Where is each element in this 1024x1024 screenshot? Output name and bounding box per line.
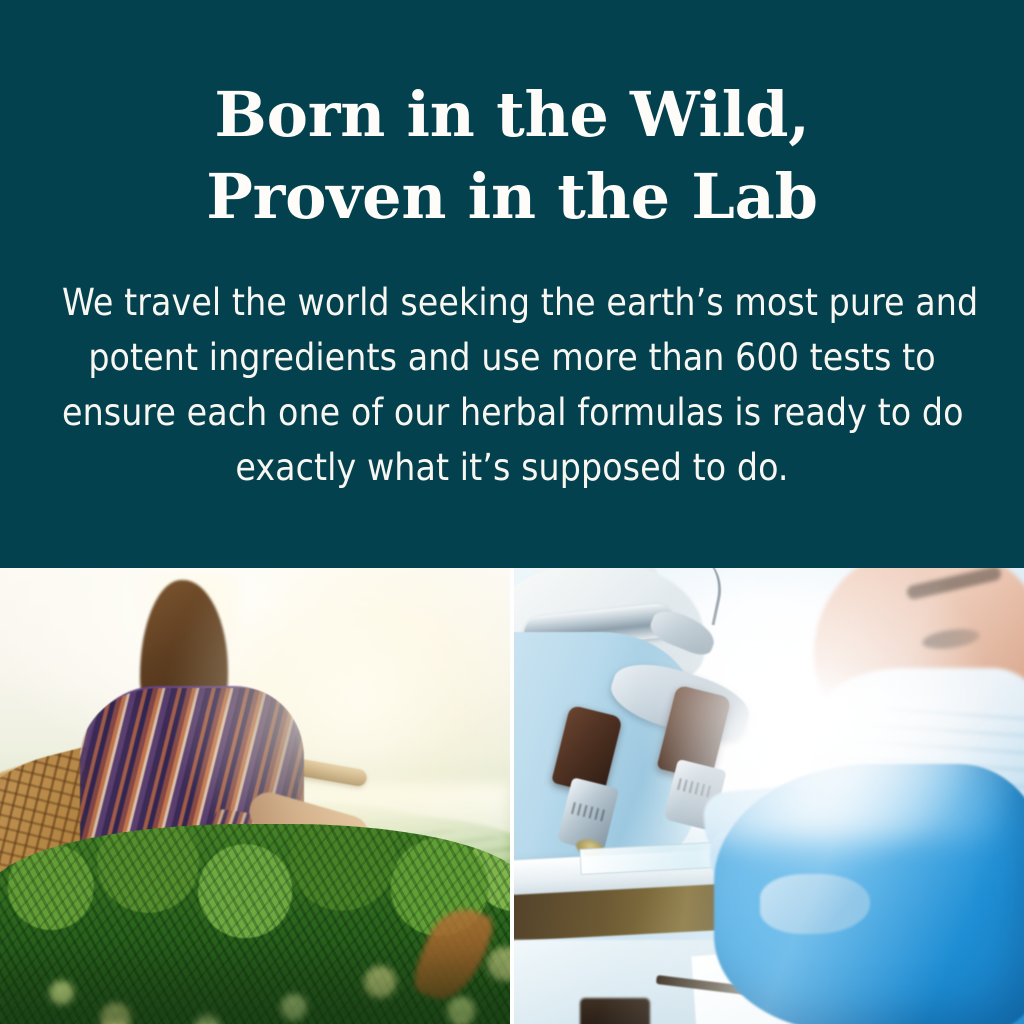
foreground-shadow — [0, 946, 510, 1024]
subcopy-line-3: ensure each one of our herbal formulas i… — [62, 385, 962, 440]
subcopy-line-1: We travel the world seeking the earth’s … — [62, 275, 962, 330]
base-foot — [580, 998, 650, 1024]
text-panel: Born in the Wild, Proven in the Lab We t… — [0, 0, 1024, 568]
photo-strip — [0, 568, 1024, 1024]
photo-tea-harvest — [0, 568, 510, 1024]
subcopy-line-4: exactly what it’s supposed to do. — [62, 440, 962, 495]
headline-line-2: Proven in the Lab — [0, 156, 1024, 238]
subcopy-line-2: potent ingredients and use more than 600… — [62, 330, 962, 385]
brand-banner: Born in the Wild, Proven in the Lab We t… — [0, 0, 1024, 1024]
headline-line-1: Born in the Wild, — [0, 74, 1024, 156]
glove-thumb — [760, 874, 870, 934]
page-title: Born in the Wild, Proven in the Lab — [0, 74, 1024, 238]
subcopy-paragraph: We travel the world seeking the earth’s … — [62, 275, 962, 495]
photo-lab-microscope — [514, 568, 1024, 1024]
